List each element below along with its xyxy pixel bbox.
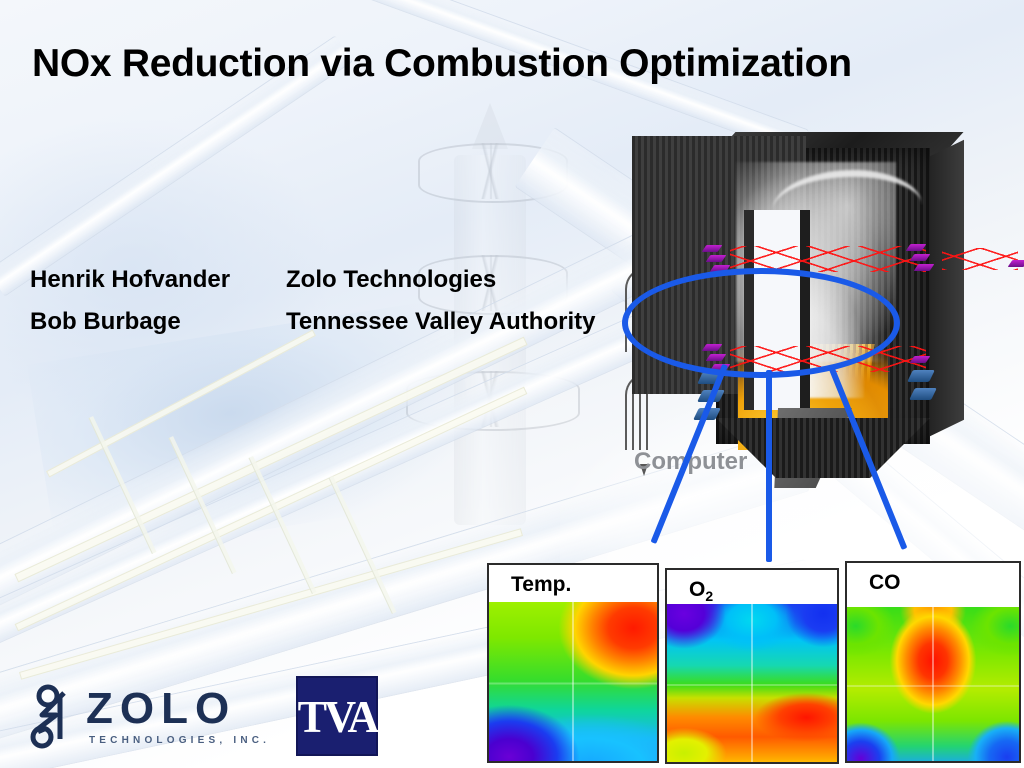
panel-label-temp: Temp. [489, 565, 657, 602]
tva-logo: TVA [296, 676, 378, 756]
heatmap-gridlines [667, 604, 837, 764]
zolo-mark-icon [26, 681, 78, 751]
heatmap-gridlines [847, 607, 1019, 763]
zolo-wordmark: ZOLO TECHNOLOGIES, INC. [86, 687, 270, 746]
author-name: Henrik Hofvander [30, 266, 286, 294]
author-name: Bob Burbage [30, 308, 286, 336]
measurement-panel-co[interactable]: CO [845, 561, 1021, 763]
callout-connector-o2 [766, 370, 772, 562]
zolo-logo: ZOLO TECHNOLOGIES, INC. [26, 681, 270, 751]
panel-label-co: CO [847, 563, 1019, 607]
author-row: Henrik Hofvander Zolo Technologies [30, 266, 670, 294]
furnace-lower-wall [716, 418, 930, 478]
author-row: Bob Burbage Tennessee Valley Authority [30, 308, 670, 336]
panel-label-o2: O2 [667, 570, 837, 604]
tva-wordmark: TVA [298, 690, 377, 743]
heatmap-o2 [667, 604, 837, 764]
measurement-panel-temp[interactable]: Temp. [487, 563, 659, 763]
zolo-subtitle: TECHNOLOGIES, INC. [89, 736, 270, 746]
heatmap-co [847, 607, 1019, 763]
heatmap-temp [489, 602, 657, 763]
heatmap-gridlines [489, 602, 657, 763]
boiler-diagram: Computer [612, 118, 1024, 518]
furnace-side-wall [930, 140, 964, 437]
zolo-name: ZOLO [86, 687, 270, 731]
highlight-ellipse [622, 268, 900, 378]
logo-bar: ZOLO TECHNOLOGIES, INC. TVA [26, 676, 378, 756]
page-title: NOx Reduction via Combustion Optimizatio… [32, 44, 982, 85]
sensor-port-icon [1008, 260, 1024, 267]
measurement-panel-o2[interactable]: O2 [665, 568, 839, 764]
presentation-slide: NOx Reduction via Combustion Optimizatio… [0, 0, 1024, 768]
author-list: Henrik Hofvander Zolo Technologies Bob B… [30, 266, 670, 350]
